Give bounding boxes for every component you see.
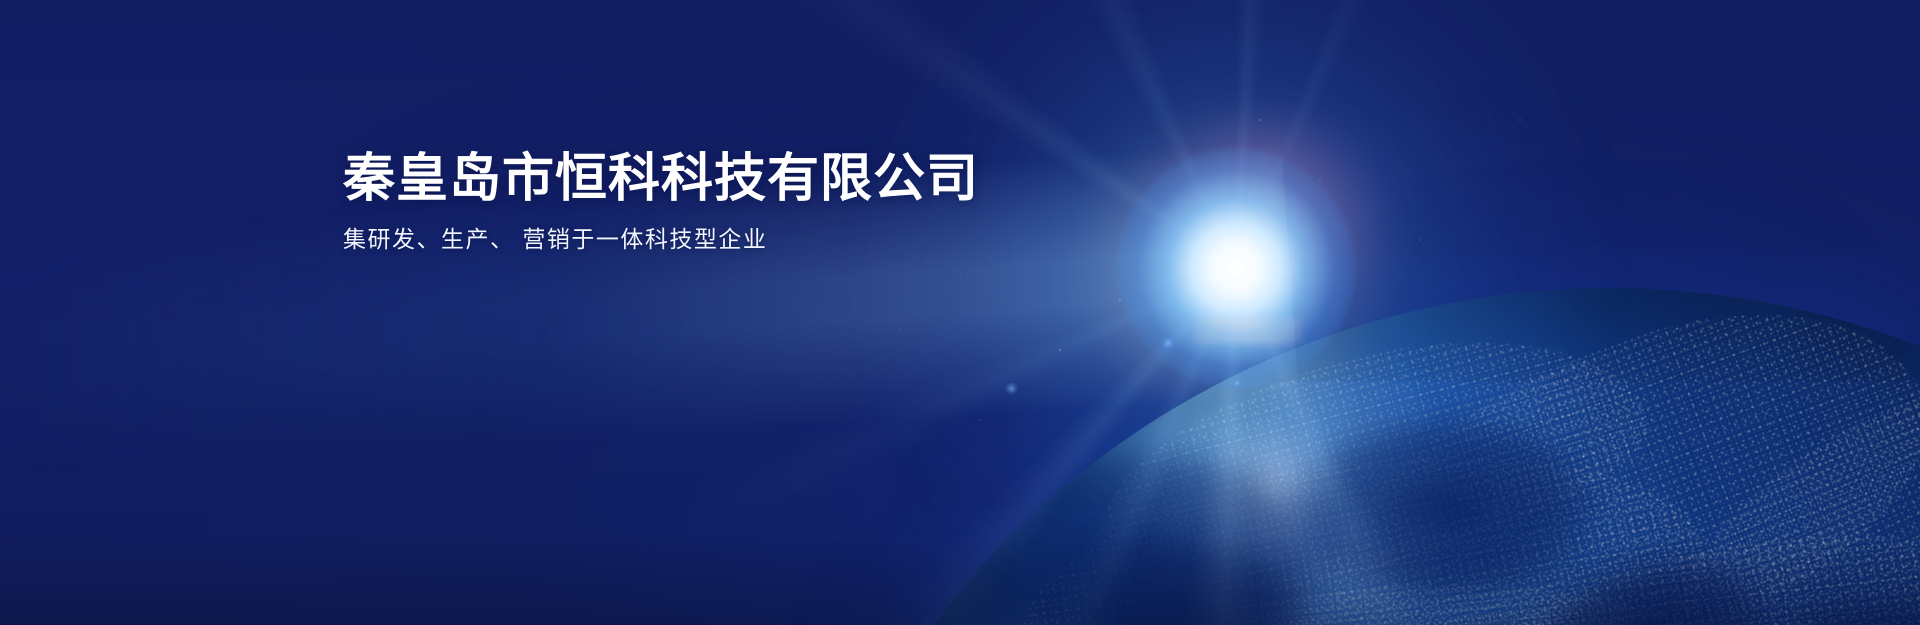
- lens-flare-bar: [1194, 318, 1302, 344]
- lens-fleck-icon-2: [1005, 382, 1018, 395]
- company-title: 秦皇岛市恒科科技有限公司: [343, 152, 979, 207]
- banner-text-block: 秦皇岛市恒科科技有限公司 集研发、生产、 营销于一体科技型企业: [343, 152, 979, 255]
- sun-core: [1116, 148, 1356, 388]
- hero-banner: 秦皇岛市恒科科技有限公司 集研发、生产、 营销于一体科技型企业: [0, 0, 1920, 625]
- lens-fleck-icon: [1160, 335, 1176, 351]
- lens-fleck-icon-3: [1232, 378, 1242, 388]
- company-tagline: 集研发、生产、 营销于一体科技型企业: [343, 223, 979, 255]
